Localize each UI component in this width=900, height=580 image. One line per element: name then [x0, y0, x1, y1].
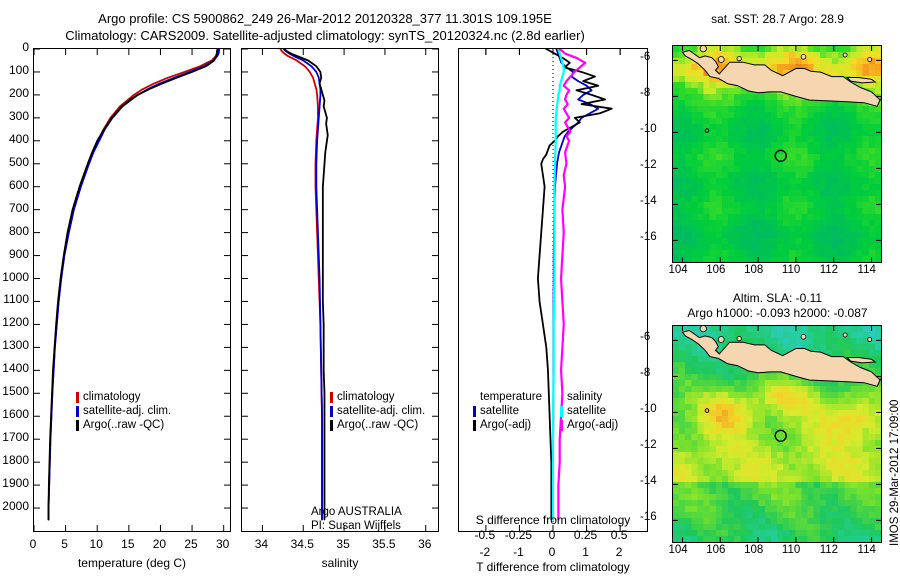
tick-label: 700	[0, 201, 29, 215]
legend-label: satellite-adj. clim.	[83, 404, 171, 418]
tick-label: 30	[203, 537, 243, 551]
sst-map[interactable]	[672, 45, 882, 263]
tick-label: -8	[640, 87, 650, 99]
tick-label: 108	[744, 264, 763, 276]
tick-label: 110	[782, 264, 800, 276]
legend-item: climatology	[76, 390, 171, 404]
tick-label: 114	[858, 544, 876, 556]
tick-label: 106	[706, 544, 725, 556]
salinity-legend: climatology satellite-adj. clim. Argo(..…	[330, 390, 425, 432]
tick-label: 112	[820, 264, 838, 276]
tick-label: 1900	[0, 476, 29, 490]
tick-label: 1300	[0, 338, 29, 352]
legend-swatch-satellite-adj	[76, 406, 79, 417]
tick-label: 300	[0, 109, 29, 123]
tick-label: 600	[0, 178, 29, 192]
legend-group-salinity: salinity satellite Argo(-adj)	[560, 390, 618, 432]
tick-label: 1600	[0, 407, 29, 421]
tick-label: 2	[599, 545, 639, 559]
tick-label: 500	[0, 155, 29, 169]
legend-item: Argo(-adj)	[560, 418, 618, 432]
salinity-difference-axis-label: S difference from climatology	[458, 513, 648, 527]
attribution-line1: Argo AUSTRALIA	[311, 505, 402, 519]
tick-label: 2000	[0, 499, 29, 513]
difference-legend: temperature satellite Argo(-adj) salinit…	[473, 390, 618, 432]
sla-map-title-line1: Altim. SLA: -0.11	[655, 291, 900, 306]
tick-label: 104	[668, 264, 687, 276]
tick-label: 1200	[0, 315, 29, 329]
figure-title-line1: Argo profile: CS 5900862_249 26-Mar-2012…	[0, 10, 650, 27]
imos-timestamp: IMOS 29-Mar-2012 17:09:00	[889, 400, 900, 546]
tick-label: 0	[0, 40, 29, 54]
legend-item: Argo(-adj)	[473, 418, 542, 432]
legend-swatch-salinity-satellite	[560, 406, 563, 417]
tick-label: 200	[0, 86, 29, 100]
tick-label: 400	[0, 132, 29, 146]
tick-label: 35	[323, 537, 363, 551]
tick-label: -12	[640, 439, 657, 451]
tick-label: -6	[640, 331, 650, 343]
tick-label: -10	[640, 123, 657, 135]
legend-item: satellite-adj. clim.	[330, 404, 425, 418]
legend-label: Argo(-adj)	[480, 418, 531, 432]
legend-item: Argo(..raw -QC)	[330, 418, 425, 432]
tick-label: 112	[820, 544, 838, 556]
legend-label: climatology	[337, 390, 395, 404]
tick-label: -14	[640, 195, 657, 207]
legend-item: Argo(..raw -QC)	[76, 418, 171, 432]
legend-group-header: salinity	[560, 390, 618, 404]
tick-label: -12	[640, 159, 657, 171]
legend-label: Argo(..raw -QC)	[83, 418, 164, 432]
temperature-profile-plot	[34, 49, 230, 531]
sst-map-title: sat. SST: 28.7 Argo: 28.9	[655, 12, 900, 27]
temperature-difference-axis-label: T difference from climatology	[455, 560, 651, 574]
legend-swatch-temperature-satellite	[473, 406, 476, 417]
tick-label: 36	[405, 537, 445, 551]
legend-item: climatology	[330, 390, 425, 404]
legend-item: satellite	[560, 404, 618, 418]
legend-label: climatology	[83, 390, 141, 404]
tick-label: -16	[640, 511, 657, 523]
legend-swatch-satellite-adj	[330, 406, 333, 417]
salinity-axis-label: salinity	[241, 556, 439, 570]
tick-label: 114	[858, 264, 876, 276]
sla-map-title-line2: Argo h1000: -0.093 h2000: -0.087	[655, 306, 900, 321]
tick-label: 110	[782, 544, 800, 556]
legend-label: Argo(-adj)	[567, 418, 618, 432]
legend-swatch-climatology	[330, 392, 333, 403]
tick-label: 0.5	[599, 528, 639, 542]
legend-label: satellite-adj. clim.	[337, 404, 425, 418]
tick-label: 106	[706, 264, 725, 276]
salinity-profile-plot	[242, 49, 438, 531]
difference-profile-panel[interactable]	[458, 48, 648, 532]
tick-label: 34.5	[282, 537, 322, 551]
tick-label: 900	[0, 247, 29, 261]
tick-label: 34	[241, 537, 281, 551]
tick-label: 100	[0, 63, 29, 77]
temperature-profile-panel[interactable]	[33, 48, 231, 532]
tick-label: 1400	[0, 361, 29, 375]
temperature-legend: climatology satellite-adj. clim. Argo(..…	[76, 390, 171, 432]
tick-label: 1000	[0, 270, 29, 284]
tick-label: -8	[640, 367, 650, 379]
tick-label: 800	[0, 224, 29, 238]
tick-label: 108	[744, 544, 763, 556]
tick-label: 35.5	[364, 537, 404, 551]
legend-swatch-argo-raw	[330, 420, 333, 431]
legend-swatch-temperature-argo	[473, 420, 476, 431]
figure-title-line2: Climatology: CARS2009. Satellite-adjuste…	[0, 27, 650, 44]
salinity-profile-panel[interactable]	[241, 48, 439, 532]
tick-label: 104	[668, 544, 687, 556]
sla-map-field	[673, 326, 881, 542]
legend-label: Argo(..raw -QC)	[337, 418, 418, 432]
tick-label: 1100	[0, 292, 29, 306]
sla-map[interactable]	[672, 325, 882, 543]
sst-map-field	[673, 46, 881, 262]
tick-label: 1800	[0, 453, 29, 467]
tick-label: -6	[640, 51, 650, 63]
legend-item: satellite-adj. clim.	[76, 404, 171, 418]
legend-item: satellite	[473, 404, 542, 418]
tick-label: -10	[640, 403, 657, 415]
attribution-line2: PI: Susan Wijffels	[311, 519, 402, 533]
legend-swatch-salinity-argo	[560, 420, 563, 431]
legend-swatch-climatology	[76, 392, 79, 403]
legend-group-temperature: temperature satellite Argo(-adj)	[473, 390, 542, 432]
sla-map-title: Altim. SLA: -0.11 Argo h1000: -0.093 h20…	[655, 291, 900, 321]
tick-label: -14	[640, 475, 657, 487]
figure-title: Argo profile: CS 5900862_249 26-Mar-2012…	[0, 10, 650, 44]
legend-group-header: temperature	[473, 390, 542, 404]
attribution: Argo AUSTRALIA PI: Susan Wijffels	[311, 505, 402, 533]
tick-label: 1700	[0, 430, 29, 444]
legend-label: satellite	[480, 404, 519, 418]
legend-label: satellite	[567, 404, 606, 418]
tick-label: 1500	[0, 384, 29, 398]
tick-label: -16	[640, 231, 657, 243]
temperature-axis-label: temperature (deg C)	[33, 556, 231, 570]
difference-profile-plot	[459, 49, 647, 531]
legend-swatch-argo-raw	[76, 420, 79, 431]
